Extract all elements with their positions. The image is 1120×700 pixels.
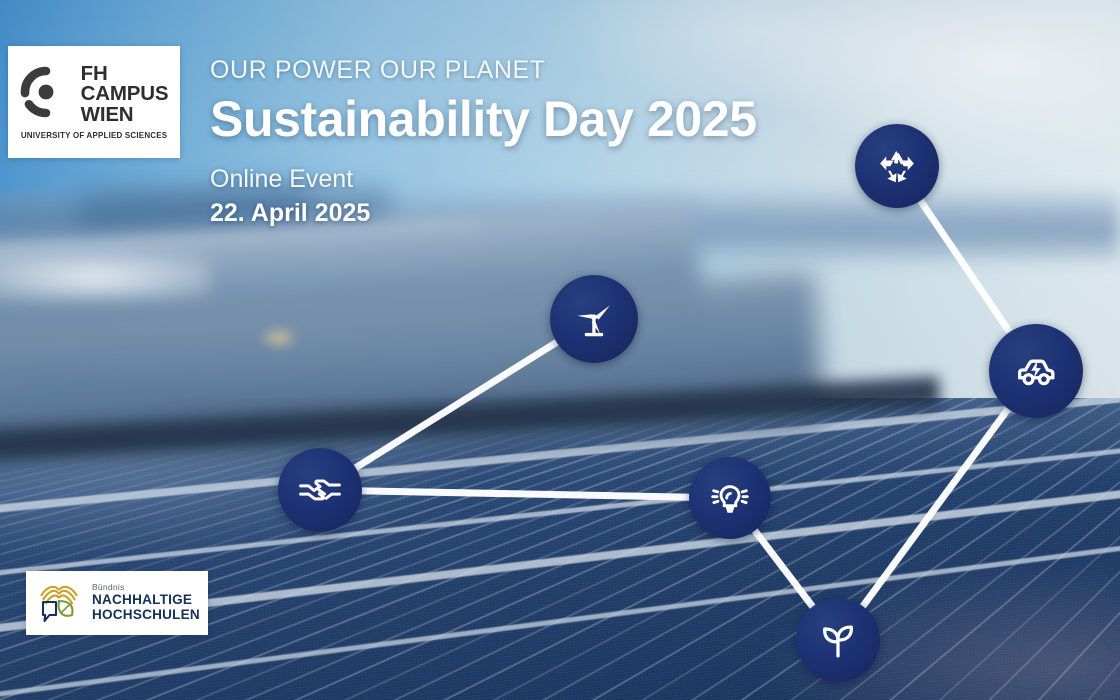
partner-logo-line2: HOCHSCHULEN (92, 608, 200, 623)
fh-campus-wien-logo[interactable]: FH CAMPUS WIEN UNIVERSITY OF APPLIED SCI… (8, 46, 180, 158)
lightbulb-icon (707, 475, 753, 521)
electric-car-icon (1011, 346, 1061, 396)
book-leaf-speech-icon (36, 578, 84, 629)
network-node-handshake[interactable] (278, 448, 362, 532)
network-node-sprout[interactable] (796, 598, 880, 682)
network-node-wind[interactable] (550, 275, 638, 363)
wind-turbine-icon (570, 295, 618, 343)
fh-logo-subtitle: UNIVERSITY OF APPLIED SCIENCES (21, 130, 167, 140)
headline-block: OUR POWER OUR PLANET Sustainability Day … (210, 56, 910, 228)
poster-canvas: FH CAMPUS WIEN UNIVERSITY OF APPLIED SCI… (0, 0, 1120, 700)
partner-logo-line1: NACHHALTIGE (92, 593, 200, 608)
buendnis-nachhaltige-hochschulen-logo[interactable]: Bündnis NACHHALTIGE HOCHSCHULEN (26, 571, 208, 635)
network-node-bulb[interactable] (689, 457, 771, 539)
page-title: Sustainability Day 2025 (210, 89, 910, 150)
network-node-ev[interactable] (989, 324, 1083, 418)
fh-logo-line3: WIEN (81, 105, 169, 126)
event-format: Online Event (210, 164, 910, 194)
handshake-icon (296, 466, 344, 514)
partner-logo-kicker: Bündnis (92, 583, 200, 592)
sprout-icon (814, 616, 862, 664)
fh-logo-line2: CAMPUS (81, 84, 169, 105)
fh-logo-line1: FH (81, 64, 169, 85)
event-date: 22. April 2025 (210, 198, 910, 228)
event-kicker: OUR POWER OUR PLANET (210, 56, 910, 85)
c-ring-icon (20, 66, 72, 123)
